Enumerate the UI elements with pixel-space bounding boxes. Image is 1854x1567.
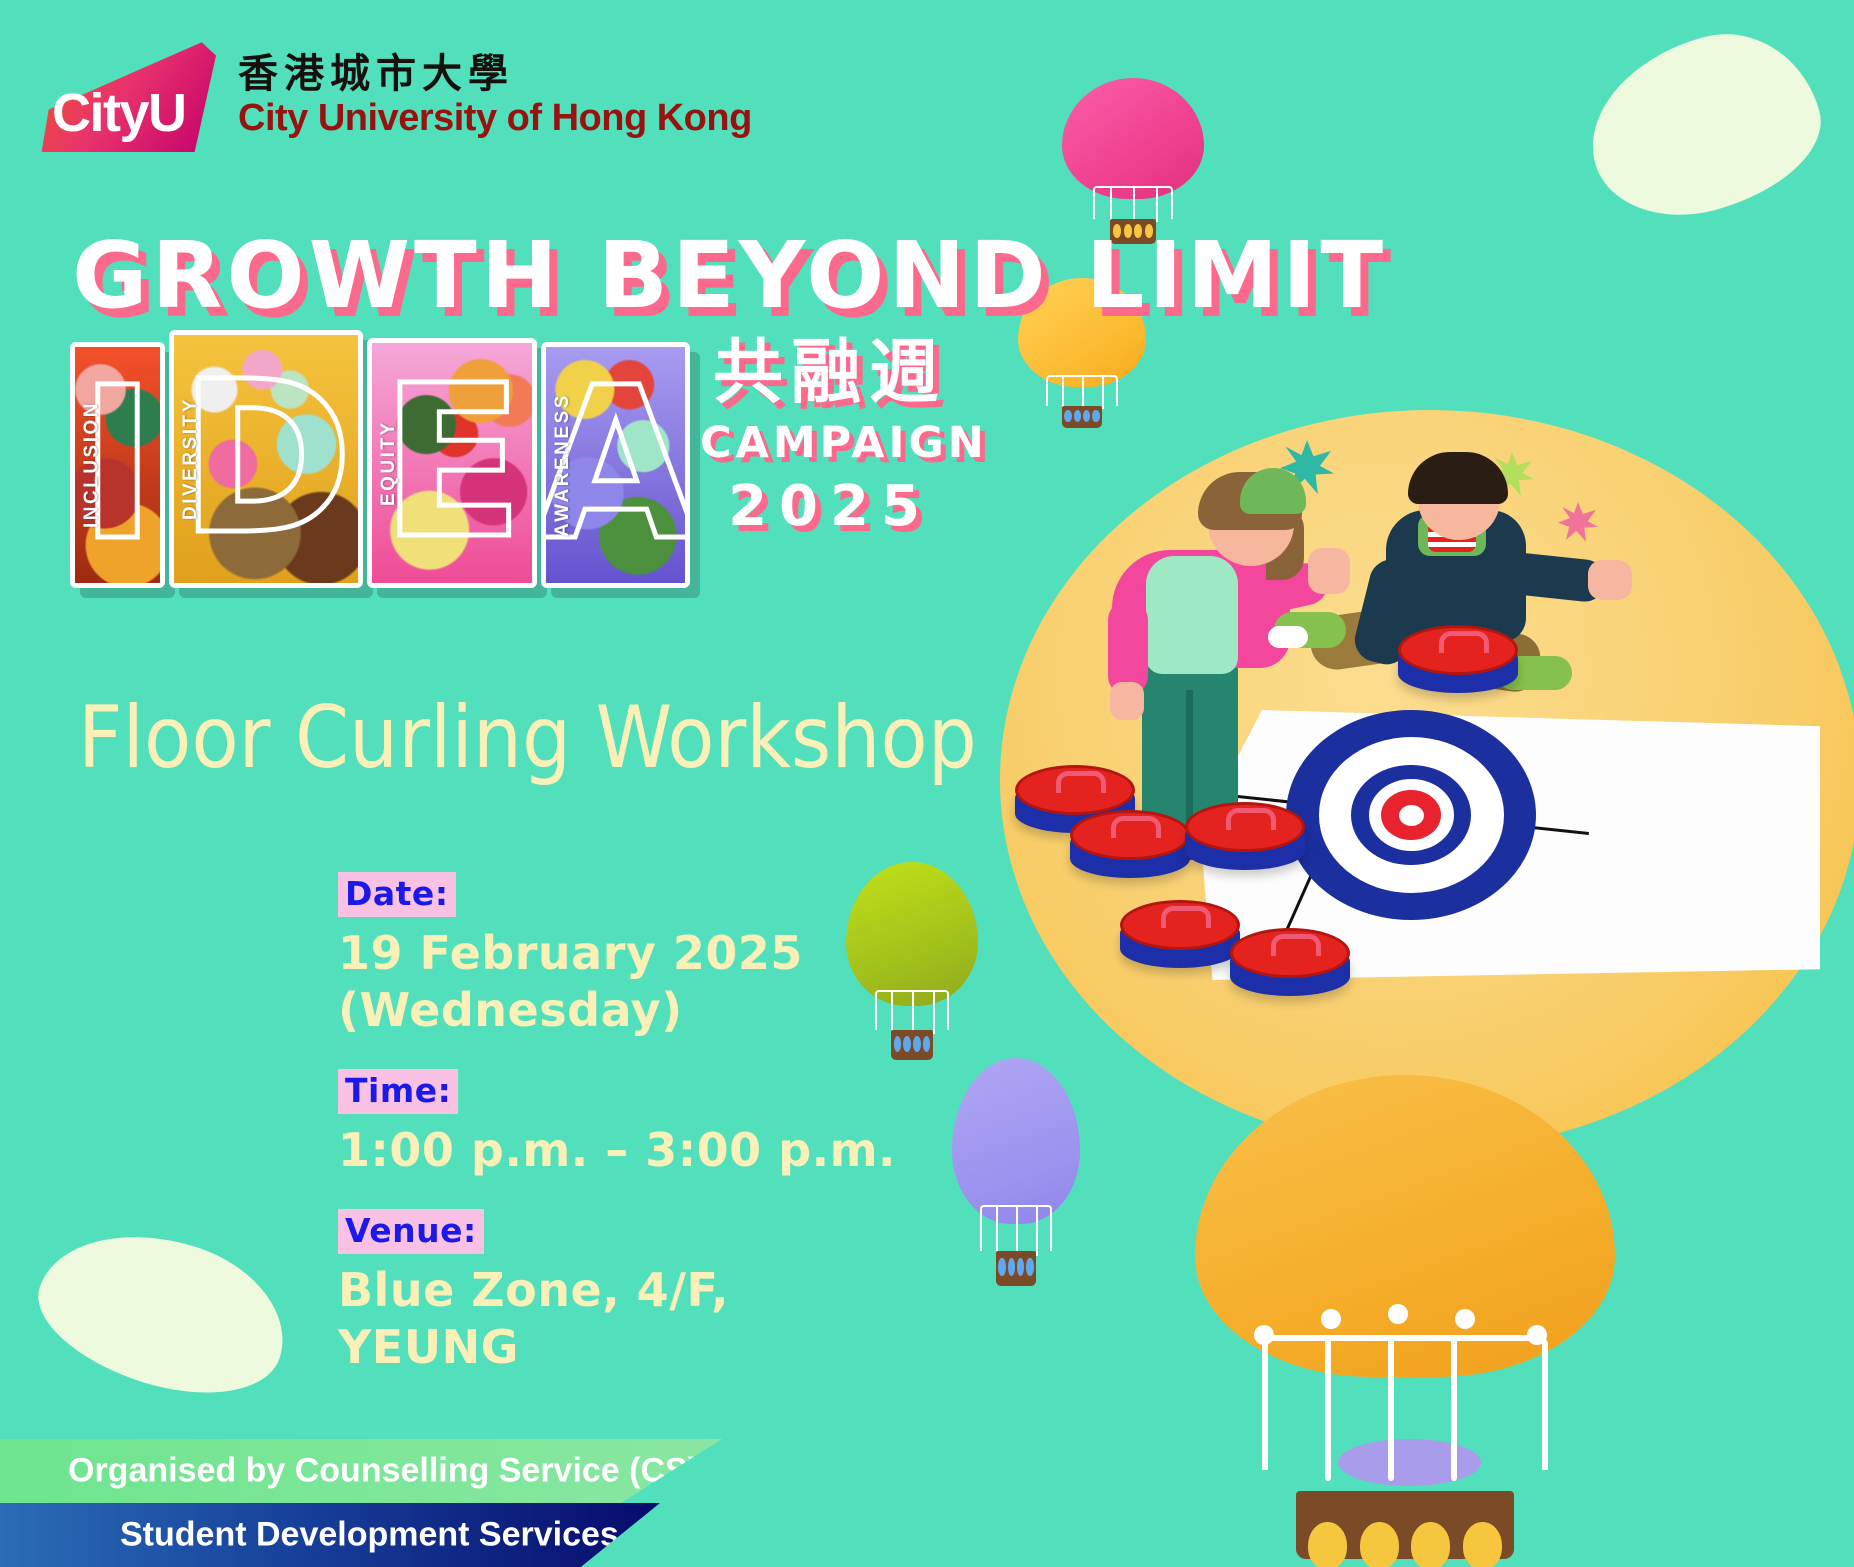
balloon-rib xyxy=(1110,186,1112,223)
university-name-chinese: 香港城市大學 xyxy=(238,52,752,97)
balloon-knot xyxy=(1527,1325,1547,1345)
curling-stone xyxy=(1398,625,1518,701)
detail-label-venue: Venue: xyxy=(338,1209,484,1254)
footer-bands: Organised by Counselling Service (CS) St… xyxy=(0,1439,1854,1567)
detail-value-venue: Blue Zone, 4/F, YEUNG xyxy=(338,1262,898,1376)
idea-letter-inclusion: I INCLUSION xyxy=(70,342,165,588)
balloon-knot xyxy=(1388,1304,1408,1324)
detail-value-time: 1:00 p.m. – 3:00 p.m. xyxy=(338,1122,898,1179)
idea-word-inclusion: INCLUSION xyxy=(73,347,111,583)
detail-time: Time: 1:00 p.m. – 3:00 p.m. xyxy=(338,1069,898,1179)
university-name-english: City University of Hong Kong xyxy=(238,97,752,140)
pink-balloon xyxy=(1062,78,1204,246)
detail-value-date: 19 February 2025(Wednesday) xyxy=(338,925,898,1039)
idea-wordmark: I INCLUSION D DIVERSITY E EQUITY A AWARE… xyxy=(70,330,690,588)
balloon-rib xyxy=(1062,375,1064,408)
balloon-rib xyxy=(1036,1205,1038,1256)
idea-letter-diversity: D DIVERSITY xyxy=(169,330,363,588)
organiser-text: Organised by Counselling Service (CS) xyxy=(68,1452,699,1491)
campaign-block: 共融週 CAMPAIGN 2025 xyxy=(700,336,960,539)
balloon-rib xyxy=(912,990,914,1034)
balloon-rib xyxy=(1156,186,1158,223)
balloon-envelope xyxy=(1062,78,1204,199)
balloon-rib xyxy=(1082,375,1084,408)
idea-word-awareness: AWARENESS xyxy=(544,347,582,583)
balloon-rib xyxy=(1133,186,1135,223)
floor-curling-illustration xyxy=(990,410,1854,1170)
campaign-title-chinese: 共融週 xyxy=(700,336,960,410)
curling-stone xyxy=(1070,810,1190,886)
idea-word-diversity: DIVERSITY xyxy=(172,335,210,583)
cityu-logo: CityU 香港城市大學 City University of Hong Kon… xyxy=(38,40,752,152)
event-subtitle: Floor Curling Workshop xyxy=(78,688,977,788)
ring-button-center xyxy=(1399,805,1424,826)
balloon-basket-dots xyxy=(998,1258,1034,1276)
curling-stone xyxy=(1185,802,1305,878)
balloon-rib xyxy=(996,1205,998,1256)
cloud-blob-bottom-left xyxy=(22,1205,305,1420)
balloon-knot xyxy=(1254,1325,1274,1345)
detail-venue: Venue: Blue Zone, 4/F, YEUNG xyxy=(338,1209,898,1376)
cityu-mark-icon: CityU xyxy=(38,40,216,152)
balloon-basket-dots xyxy=(894,1036,931,1052)
curling-stone xyxy=(1230,928,1350,1004)
detail-label-date: Date: xyxy=(338,872,456,917)
balloon-rib xyxy=(1016,1205,1018,1256)
campaign-label: CAMPAIGN xyxy=(700,418,960,468)
event-details: Date: 19 February 2025(Wednesday) Time: … xyxy=(338,872,898,1406)
curling-stone xyxy=(1120,900,1240,976)
detail-date: Date: 19 February 2025(Wednesday) xyxy=(338,872,898,1039)
detail-label-time: Time: xyxy=(338,1069,458,1114)
cityu-wordmark: CityU xyxy=(52,82,186,144)
university-name-block: 香港城市大學 City University of Hong Kong xyxy=(238,52,752,139)
campaign-year: 2025 xyxy=(700,474,960,539)
organiser-band: Organised by Counselling Service (CS) xyxy=(0,1439,722,1503)
cloud-blob-top-right xyxy=(1571,13,1837,237)
idea-letter-equity: E EQUITY xyxy=(367,338,537,588)
crouching-player-illustration xyxy=(1300,460,1600,750)
department-text: Student Development Services xyxy=(120,1516,619,1555)
poster-canvas: CityU 香港城市大學 City University of Hong Kon… xyxy=(0,0,1854,1567)
idea-letter-awareness: A AWARENESS xyxy=(541,342,690,588)
balloon-rib xyxy=(933,990,935,1034)
poster-headline: GROWTH BEYOND LIMIT xyxy=(72,222,1387,329)
balloon-knot xyxy=(1321,1309,1341,1329)
department-band: Student Development Services xyxy=(0,1503,660,1567)
balloon-rib xyxy=(1102,375,1104,408)
idea-word-equity: EQUITY xyxy=(370,343,408,583)
